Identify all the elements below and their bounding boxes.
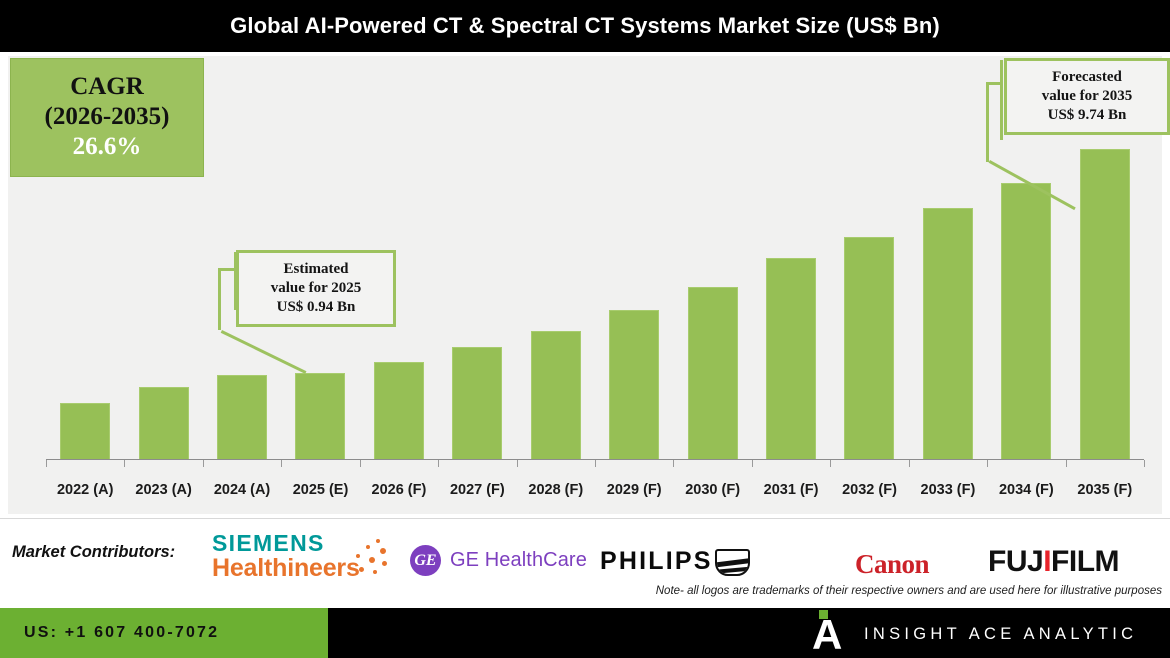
x-axis-tick xyxy=(1144,460,1145,467)
logo-philips: PHILIPS xyxy=(600,547,750,576)
market-contributors-label: Market Contributors: xyxy=(12,543,175,562)
bar-2028[interactable] xyxy=(517,59,595,459)
x-axis-tick xyxy=(281,460,282,467)
x-axis-label: 2023 (A) xyxy=(121,482,207,498)
leader-line-2025-vertical xyxy=(234,252,237,310)
bar-rect xyxy=(844,237,894,459)
page-title: Global AI-Powered CT & Spectral CT Syste… xyxy=(230,13,940,39)
fujifilm-part3: FILM xyxy=(1051,545,1119,578)
callout-forecasted-2035: Forecasted value for 2035 US$ 9.74 Bn xyxy=(1004,58,1170,135)
x-axis-tick xyxy=(46,460,47,467)
leader-line-2035-bracket xyxy=(986,82,989,162)
logo-ge-healthcare: GE GE HealthCare xyxy=(410,545,587,576)
bar-rect xyxy=(688,287,738,459)
fujifilm-part1: FUJ xyxy=(988,545,1043,578)
x-axis-tick xyxy=(203,460,204,467)
x-axis-label: 2030 (F) xyxy=(670,482,756,498)
x-axis-tick xyxy=(124,460,125,467)
bar-rect xyxy=(60,403,110,459)
x-axis-label: 2022 (A) xyxy=(42,482,128,498)
x-axis-label: 2026 (F) xyxy=(356,482,442,498)
bar-2033[interactable] xyxy=(909,59,987,459)
callout-forecasted-line1: Forecasted xyxy=(1017,68,1157,87)
callout-estimated-line2: value for 2025 xyxy=(249,279,383,298)
bar-rect xyxy=(374,362,424,459)
bar-rect xyxy=(923,208,973,459)
market-contributors-strip: Market Contributors: SIEMENS Healthineer… xyxy=(0,518,1170,608)
bar-2032[interactable] xyxy=(830,59,908,459)
callout-estimated-line1: Estimated xyxy=(249,260,383,279)
x-axis-label: 2028 (F) xyxy=(513,482,599,498)
insight-ace-logo-icon: A xyxy=(812,614,846,654)
x-axis-tick xyxy=(360,460,361,467)
philips-shield-icon xyxy=(715,549,750,576)
x-axis-label: 2034 (F) xyxy=(983,482,1069,498)
bar-rect xyxy=(1080,149,1130,459)
bar-rect xyxy=(1001,183,1051,459)
x-axis-tick xyxy=(909,460,910,467)
x-axis-label: 2025 (E) xyxy=(278,482,364,498)
x-axis-label: 2024 (A) xyxy=(199,482,285,498)
x-axis-tick xyxy=(673,460,674,467)
x-axis-tick xyxy=(517,460,518,467)
ge-monogram-icon: GE xyxy=(410,545,441,576)
siemens-dots-icon xyxy=(350,537,390,579)
footer-phone-block: US: +1 607 400-7072 xyxy=(0,608,328,658)
logo-fujifilm: FUJIFILM xyxy=(988,545,1119,579)
cagr-period: (2026-2035) xyxy=(45,102,170,132)
cagr-label: CAGR xyxy=(70,72,144,102)
footer-phone-number: US: +1 607 400-7072 xyxy=(24,624,219,642)
bar-rect xyxy=(295,373,345,459)
leader-line-2035-vertical xyxy=(1000,60,1003,140)
bar-rect xyxy=(139,387,189,459)
healthineers-wordmark: Healthineers xyxy=(212,555,360,581)
fujifilm-part2: I xyxy=(1043,545,1051,578)
bar-rect xyxy=(531,331,581,459)
canon-wordmark: Canon xyxy=(855,549,929,580)
x-axis-tick xyxy=(438,460,439,467)
callout-forecasted-line3: US$ 9.74 Bn xyxy=(1017,106,1157,125)
x-axis-label: 2029 (F) xyxy=(591,482,677,498)
x-axis-label: 2032 (F) xyxy=(827,482,913,498)
x-axis-line xyxy=(46,459,1144,460)
logo-canon: Canon xyxy=(855,549,929,580)
bar-2029[interactable] xyxy=(595,59,673,459)
x-axis-label: 2035 (F) xyxy=(1062,482,1148,498)
trademark-note: Note- all logos are trademarks of their … xyxy=(656,585,1162,597)
ge-healthcare-wordmark: GE HealthCare xyxy=(450,549,587,572)
x-axis-label: 2033 (F) xyxy=(905,482,991,498)
siemens-wordmark: SIEMENS xyxy=(212,531,325,555)
bar-rect xyxy=(452,347,502,459)
philips-wordmark: PHILIPS xyxy=(600,547,713,576)
bar-rect xyxy=(609,310,659,459)
callout-estimated-2025: Estimated value for 2025 US$ 0.94 Bn xyxy=(236,250,396,327)
logo-siemens-healthineers: SIEMENS Healthineers xyxy=(212,531,360,581)
x-axis-tick xyxy=(752,460,753,467)
leader-line-2035-bracket-top xyxy=(986,82,1002,85)
bar-2030[interactable] xyxy=(673,59,751,459)
footer-brand: A INSIGHT ACE ANALYTIC xyxy=(812,614,1137,654)
footer-bar: US: +1 607 400-7072 A INSIGHT ACE ANALYT… xyxy=(0,608,1170,658)
x-axis-label: 2027 (F) xyxy=(434,482,520,498)
x-axis-tick xyxy=(595,460,596,467)
x-axis-tick xyxy=(987,460,988,467)
leader-line-2025-bracket xyxy=(218,268,221,330)
callout-estimated-line3: US$ 0.94 Bn xyxy=(249,298,383,317)
x-axis-label: 2031 (F) xyxy=(748,482,834,498)
cagr-badge: CAGR (2026-2035) 26.6% xyxy=(10,58,204,177)
leader-line-2025-bracket-top xyxy=(218,268,235,271)
cagr-value: 26.6% xyxy=(73,131,142,162)
footer-brand-name: INSIGHT ACE ANALYTIC xyxy=(864,625,1137,644)
bar-2027[interactable] xyxy=(438,59,516,459)
x-axis-tick xyxy=(1066,460,1067,467)
title-bar: Global AI-Powered CT & Spectral CT Syste… xyxy=(0,0,1170,52)
x-axis-tick xyxy=(830,460,831,467)
bar-rect xyxy=(766,258,816,459)
fujifilm-wordmark: FUJIFILM xyxy=(988,545,1119,579)
bar-rect xyxy=(217,375,267,459)
bar-2031[interactable] xyxy=(752,59,830,459)
callout-forecasted-line2: value for 2035 xyxy=(1017,87,1157,106)
